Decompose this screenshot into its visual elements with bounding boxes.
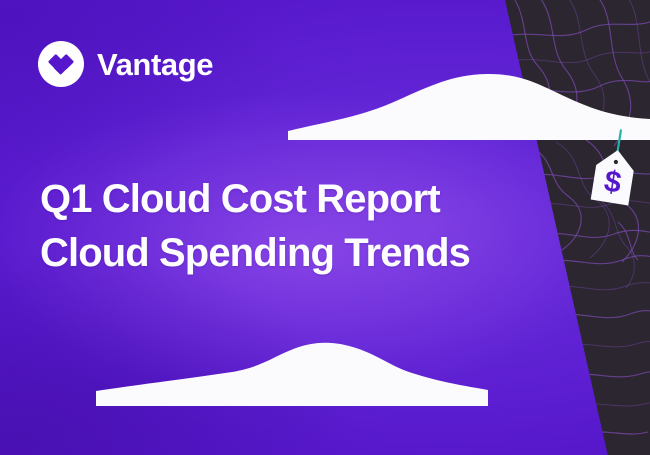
vantage-diamonds-glyph <box>47 50 75 78</box>
price-tag-icon: $ <box>584 124 646 208</box>
price-tag-string <box>617 130 620 152</box>
vantage-report-banner: Vantage Q1 Cloud Cost Report Cloud Spend… <box>0 0 650 455</box>
brand-logo[interactable]: Vantage <box>38 41 213 87</box>
headline-line-1: Q1 Cloud Cost Report <box>40 172 470 226</box>
headline-block: Q1 Cloud Cost Report Cloud Spending Tren… <box>40 172 470 280</box>
brand-name: Vantage <box>97 49 213 80</box>
headline-line-2: Cloud Spending Trends <box>40 226 470 280</box>
price-tag-glyph: $ <box>584 124 646 208</box>
vantage-diamonds-icon <box>38 41 84 87</box>
